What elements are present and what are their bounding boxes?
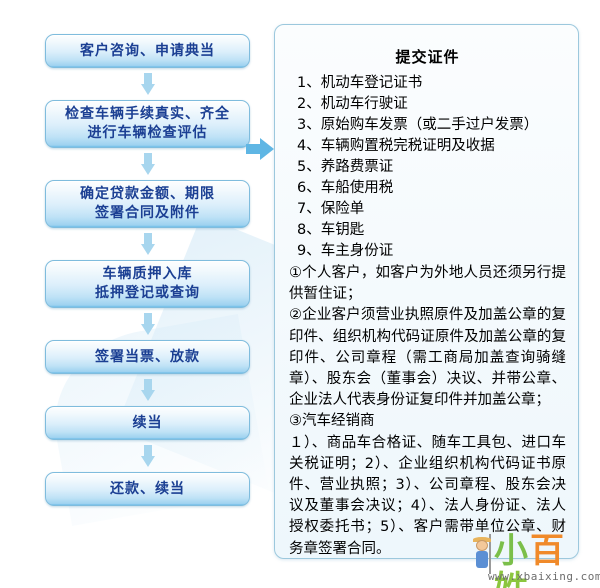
arrow-down-icon xyxy=(141,73,155,95)
note-paragraph: １）、商品车合格证、随车工具包、进口车关税证明；2）、企业组织机构代码证书原件、… xyxy=(289,433,566,559)
flow-node-4[interactable]: 车辆质押入库 抵押登记或查询 xyxy=(45,260,250,308)
list-item: 6、车船使用税 xyxy=(297,178,568,199)
flow-node-5[interactable]: 签署当票、放款 xyxy=(45,340,250,374)
arrow-right-icon xyxy=(246,138,276,160)
flow-node-5-label: 签署当票、放款 xyxy=(89,348,206,367)
list-item: 5、养路费票证 xyxy=(297,157,568,178)
flow-node-2-label: 检查车辆手续真实、齐全 进行车辆检查评估 xyxy=(59,105,236,143)
arrow-down-icon xyxy=(141,233,155,255)
flow-node-1-label: 客户咨询、申请典当 xyxy=(74,42,221,61)
list-item: 2、机动车行驶证 xyxy=(297,94,568,115)
arrow-down-icon xyxy=(141,379,155,401)
arrow-down-icon xyxy=(141,153,155,175)
flowchart-infographic: 客户咨询、申请典当 检查车辆手续真实、齐全 进行车辆检查评估 确定贷款金额、期限… xyxy=(0,0,600,588)
arrow-down-icon xyxy=(141,445,155,467)
flow-connector-3 xyxy=(45,228,250,260)
list-item: 3、原始购车发票（或二手过户发票） xyxy=(297,115,568,136)
watermark-char-3: 姓 xyxy=(494,569,530,588)
flow-connector-4 xyxy=(45,308,250,340)
list-item: 8、车钥匙 xyxy=(297,220,568,241)
flow-node-3[interactable]: 确定贷款金额、期限 签署合同及附件 xyxy=(45,180,250,228)
flow-node-1[interactable]: 客户咨询、申请典当 xyxy=(45,34,250,68)
flow-connector-5 xyxy=(45,374,250,406)
flow-connector-2 xyxy=(45,148,250,180)
list-item: 9、车主身份证 xyxy=(297,241,568,262)
note-paragraph: ①个人客户，如客户为外地人员还须另行提供暂住证； xyxy=(289,263,566,305)
required-documents-list: 1、机动车登记证书 2、机动车行驶证 3、原始购车发票（或二手过户发票） 4、车… xyxy=(287,73,568,262)
list-item: 7、保险单 xyxy=(297,199,568,220)
list-item: 1、机动车登记证书 xyxy=(297,73,568,94)
panel-notes: ①个人客户，如客户为外地人员还须另行提供暂住证； ②企业客户须营业执照原件及加盖… xyxy=(287,263,568,559)
flow-node-3-label: 确定贷款金额、期限 签署合同及附件 xyxy=(74,185,221,223)
documents-panel: 提交证件 1、机动车登记证书 2、机动车行驶证 3、原始购车发票（或二手过户发票… xyxy=(274,24,579,559)
arrow-down-icon xyxy=(141,313,155,335)
flow-connector-6 xyxy=(45,440,250,472)
watermark-url: www.xbaixing.com xyxy=(488,570,600,583)
flow-node-6-label: 续当 xyxy=(127,414,169,433)
flow-node-2[interactable]: 检查车辆手续真实、齐全 进行车辆检查评估 xyxy=(45,100,250,148)
flow-connector-1 xyxy=(45,68,250,100)
panel-title: 提交证件 xyxy=(287,46,568,67)
note-paragraph: ②企业客户须营业执照原件及加盖公章的复印件、组织机构代码证原件及加盖公章的复印件… xyxy=(289,305,566,411)
list-item: 4、车辆购置税完税证明及收据 xyxy=(297,136,568,157)
flow-node-6[interactable]: 续当 xyxy=(45,406,250,440)
flow-node-7-label: 还款、续当 xyxy=(104,480,191,499)
flow-node-4-label: 车辆质押入库 抵押登记或查询 xyxy=(89,265,206,303)
process-flow-column: 客户咨询、申请典当 检查车辆手续真实、齐全 进行车辆检查评估 确定贷款金额、期限… xyxy=(45,34,250,506)
note-paragraph: ③汽车经销商 xyxy=(289,411,566,432)
flow-node-7[interactable]: 还款、续当 xyxy=(45,472,250,506)
